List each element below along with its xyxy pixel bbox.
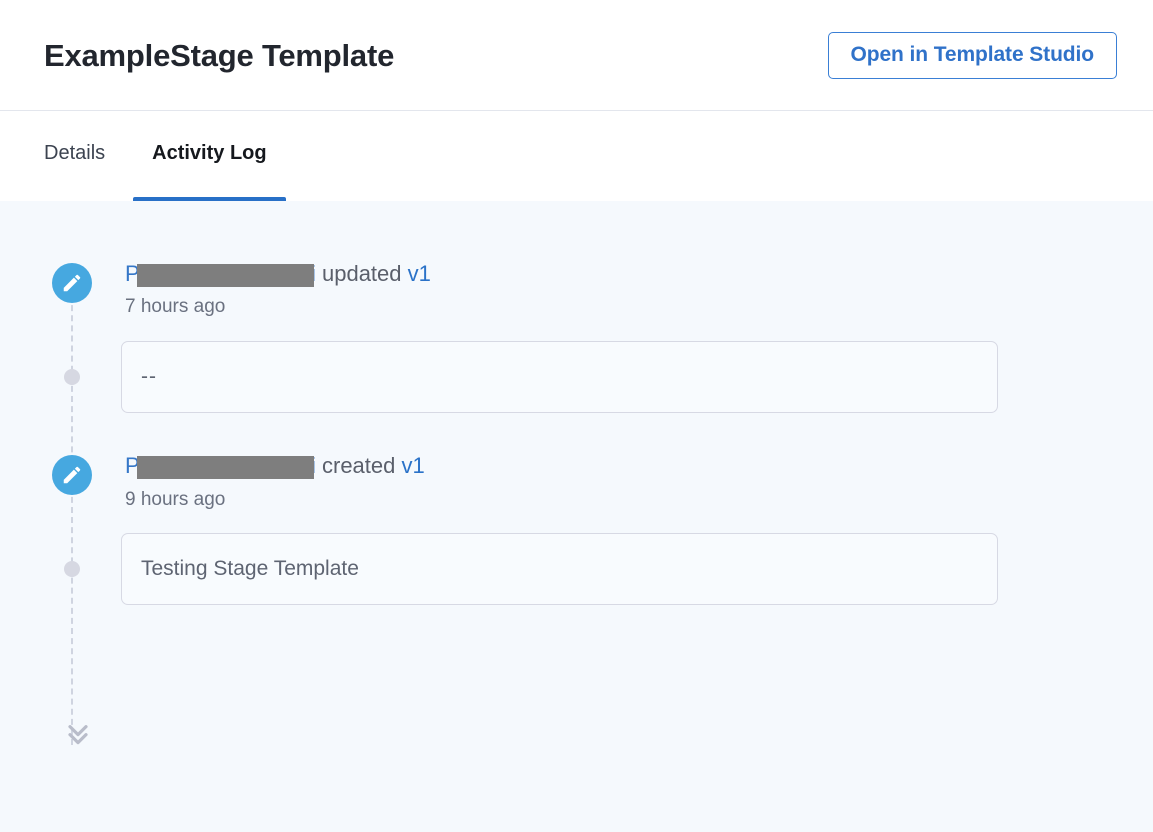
entry-spacer	[52, 413, 1052, 453]
activity-entry-header: Paaaaaaaaaaaaaai created v1 9 hours ago	[52, 453, 1052, 511]
redaction-bar	[137, 456, 314, 479]
activity-entry-text: Paaaaaaaaaaaaaai updated v1 7 hours ago	[125, 261, 431, 319]
activity-entry-summary: Paaaaaaaaaaaaaai updated v1	[125, 261, 431, 287]
activity-action-label: updated	[316, 261, 408, 286]
activity-entry-header: Paaaaaaaaaaaaaai updated v1 7 hours ago	[52, 261, 1052, 319]
activity-entry-text: Paaaaaaaaaaaaaai created v1 9 hours ago	[125, 453, 425, 511]
tab-activity-log-label: Activity Log	[152, 142, 266, 165]
activity-note-card: Testing Stage Template	[121, 533, 998, 605]
activity-version-link[interactable]: v1	[408, 261, 431, 286]
activity-log-panel: Paaaaaaaaaaaaaai updated v1 7 hours ago …	[0, 201, 1153, 832]
redaction-bar	[137, 264, 314, 287]
pencil-icon	[52, 263, 92, 303]
activity-entry: Paaaaaaaaaaaaaai updated v1 7 hours ago …	[52, 261, 1052, 413]
page-header: ExampleStage Template Open in Template S…	[0, 0, 1153, 111]
activity-note-card: --	[121, 341, 998, 413]
double-chevron-down-icon[interactable]	[62, 716, 94, 748]
activity-entry: Paaaaaaaaaaaaaai created v1 9 hours ago …	[52, 453, 1052, 605]
timeline-node-dot	[64, 561, 80, 577]
open-in-template-studio-button[interactable]: Open in Template Studio	[828, 32, 1118, 79]
activity-timeline: Paaaaaaaaaaaaaai updated v1 7 hours ago …	[52, 261, 1052, 605]
timeline-node-dot	[64, 369, 80, 385]
page-title: ExampleStage Template	[44, 40, 394, 71]
tab-details[interactable]: Details	[44, 111, 105, 201]
tab-details-label: Details	[44, 142, 105, 165]
activity-version-link[interactable]: v1	[401, 453, 424, 478]
activity-entry-summary: Paaaaaaaaaaaaaai created v1	[125, 453, 425, 479]
activity-entry-body: Testing Stage Template	[52, 533, 1052, 605]
activity-entry-body: --	[52, 341, 1052, 413]
tab-bar: Details Activity Log	[0, 111, 1153, 201]
activity-user-name: Paaaaaaaaaaaaaai	[125, 261, 316, 287]
tab-activity-log[interactable]: Activity Log	[152, 111, 266, 201]
activity-timestamp: 9 hours ago	[125, 489, 425, 512]
activity-action-label: created	[316, 453, 402, 478]
activity-timestamp: 7 hours ago	[125, 296, 431, 319]
pencil-icon	[52, 455, 92, 495]
activity-user-name: Paaaaaaaaaaaaaai	[125, 453, 316, 479]
